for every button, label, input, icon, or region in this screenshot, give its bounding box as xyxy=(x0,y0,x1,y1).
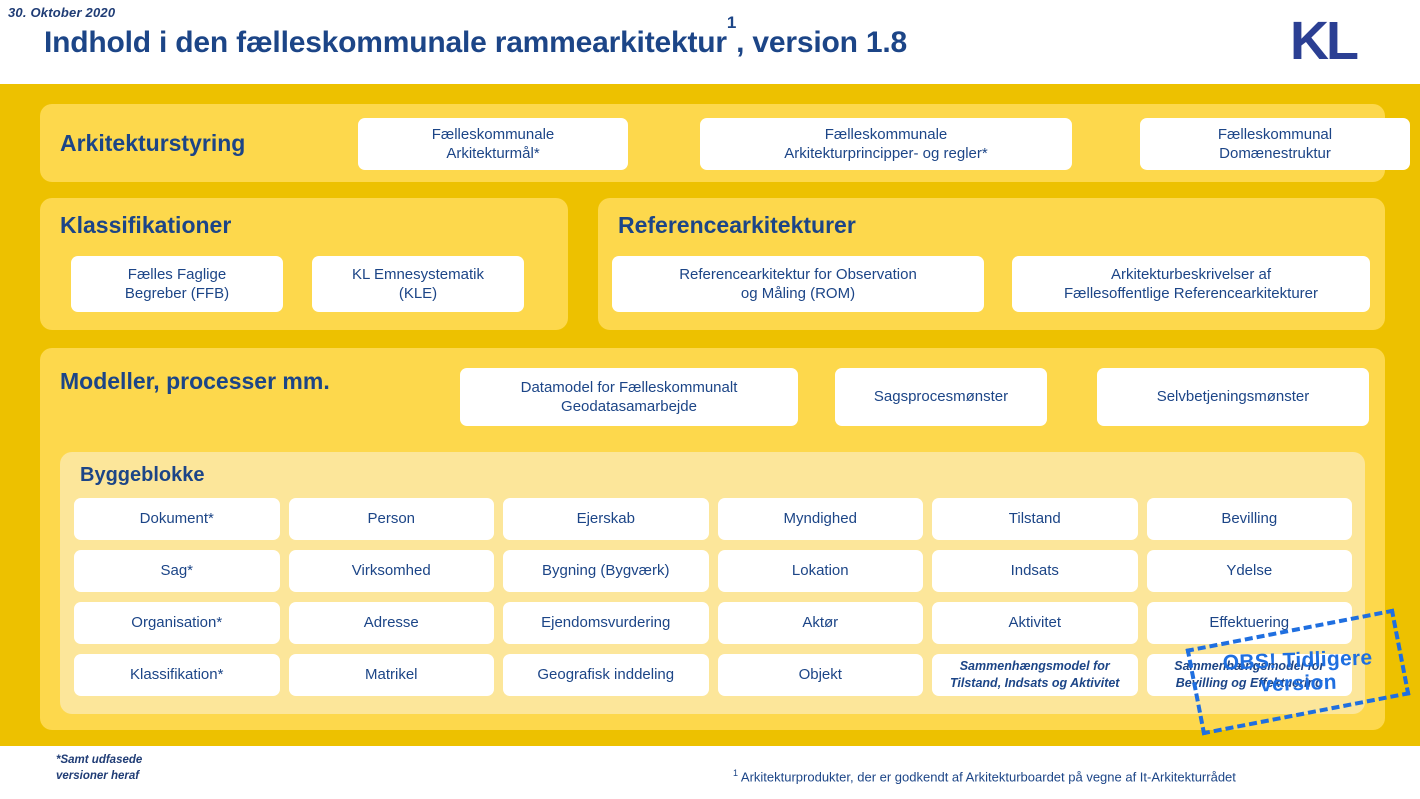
byggeblokke-grid: Dokument*PersonEjerskabMyndighedTilstand… xyxy=(74,498,1352,696)
card-sagsprocesmoenster[interactable]: Sagsprocesmønster xyxy=(835,368,1047,426)
footnote-right-text: Arkitekturprodukter, der er godkendt af … xyxy=(738,769,1236,784)
kl-logo: KL xyxy=(1290,14,1356,68)
panel-title-modeller-processer: Modeller, processer mm. xyxy=(60,368,330,395)
panel-klassifikationer: Klassifikationer Fælles FagligeBegreber … xyxy=(40,198,568,330)
slide-date: 30. Oktober 2020 xyxy=(8,5,115,20)
card-datamodel-geodatasamarbejde[interactable]: Datamodel for FælleskommunaltGeodatasama… xyxy=(460,368,798,426)
page-title: Indhold i den fælleskommunale rammearkit… xyxy=(44,26,907,60)
byggeblok-cell[interactable]: Bevilling xyxy=(1147,498,1353,540)
page-title-footnote-marker: 1 xyxy=(727,13,736,32)
byggeblok-cell[interactable]: Sammenhængsmodel forBevilling og Effektu… xyxy=(1147,654,1353,696)
byggeblok-cell[interactable]: Myndighed xyxy=(718,498,924,540)
byggeblok-cell[interactable]: Person xyxy=(289,498,495,540)
page-title-suffix: , version 1.8 xyxy=(736,26,907,59)
byggeblok-cell[interactable]: Ejerskab xyxy=(503,498,709,540)
byggeblok-cell[interactable]: Geografisk inddeling xyxy=(503,654,709,696)
byggeblok-cell[interactable]: Organisation* xyxy=(74,602,280,644)
card-referencearkitektur-rom[interactable]: Referencearkitektur for Observationog Må… xyxy=(612,256,984,312)
footnote-right: 1 Arkitekturprodukter, der er godkendt a… xyxy=(733,768,1236,784)
byggeblok-cell[interactable]: Aktivitet xyxy=(932,602,1138,644)
card-arkitekturbeskrivelser-faellesoffentlige[interactable]: Arkitekturbeskrivelser afFællesoffentlig… xyxy=(1012,256,1370,312)
byggeblok-cell[interactable]: Ejendomsvurdering xyxy=(503,602,709,644)
byggeblok-cell[interactable]: Matrikel xyxy=(289,654,495,696)
card-faelleskommunal-domaenestruktur[interactable]: FælleskommunalDomænestruktur xyxy=(1140,118,1410,170)
byggeblok-cell[interactable]: Sag* xyxy=(74,550,280,592)
byggeblok-cell[interactable]: Objekt xyxy=(718,654,924,696)
slide-header: 30. Oktober 2020 Indhold i den fælleskom… xyxy=(0,0,1420,84)
byggeblok-cell[interactable]: Dokument* xyxy=(74,498,280,540)
byggeblok-cell[interactable]: Indsats xyxy=(932,550,1138,592)
card-selvbetjeningsmoenster[interactable]: Selvbetjeningsmønster xyxy=(1097,368,1369,426)
panel-referencearkitekturer: Referencearkitekturer Referencearkitektu… xyxy=(598,198,1385,330)
byggeblok-cell[interactable]: Ydelse xyxy=(1147,550,1353,592)
card-faelleskommunale-arkitekturmaal[interactable]: FælleskommunaleArkitekturmål* xyxy=(358,118,628,170)
byggeblok-cell[interactable]: Sammenhængsmodel forTilstand, Indsats og… xyxy=(932,654,1138,696)
panel-modeller-processer: Modeller, processer mm. Datamodel for Fæ… xyxy=(40,348,1385,730)
byggeblok-cell[interactable]: Adresse xyxy=(289,602,495,644)
byggeblok-cell[interactable]: Tilstand xyxy=(932,498,1138,540)
byggeblok-cell[interactable]: Virksomhed xyxy=(289,550,495,592)
slide-root: 30. Oktober 2020 Indhold i den fælleskom… xyxy=(0,0,1420,799)
card-arkitekturprincipper-og-regler[interactable]: FælleskommunaleArkitekturprincipper- og … xyxy=(700,118,1072,170)
page-title-main: Indhold i den fælleskommunale rammearkit… xyxy=(44,26,727,59)
panel-arkitekturstyring: Arkitekturstyring FælleskommunaleArkitek… xyxy=(40,104,1385,182)
panel-title-referencearkitekturer: Referencearkitekturer xyxy=(618,212,856,239)
panel-byggeblokke: Byggeblokke Dokument*PersonEjerskabMyndi… xyxy=(60,452,1365,714)
byggeblok-cell[interactable]: Aktør xyxy=(718,602,924,644)
panel-title-klassifikationer: Klassifikationer xyxy=(60,212,231,239)
panel-title-byggeblokke: Byggeblokke xyxy=(80,464,204,487)
byggeblok-cell[interactable]: Bygning (Bygværk) xyxy=(503,550,709,592)
panel-title-arkitekturstyring: Arkitekturstyring xyxy=(60,130,245,157)
footnote-left: *Samt udfasedeversioner heraf xyxy=(56,753,142,784)
byggeblok-cell[interactable]: Effektuering xyxy=(1147,602,1353,644)
byggeblok-cell[interactable]: Lokation xyxy=(718,550,924,592)
byggeblok-cell[interactable]: Klassifikation* xyxy=(74,654,280,696)
card-kl-emnesystematik[interactable]: KL Emnesystematik(KLE) xyxy=(312,256,524,312)
card-faelles-faglige-begreber[interactable]: Fælles FagligeBegreber (FFB) xyxy=(71,256,283,312)
